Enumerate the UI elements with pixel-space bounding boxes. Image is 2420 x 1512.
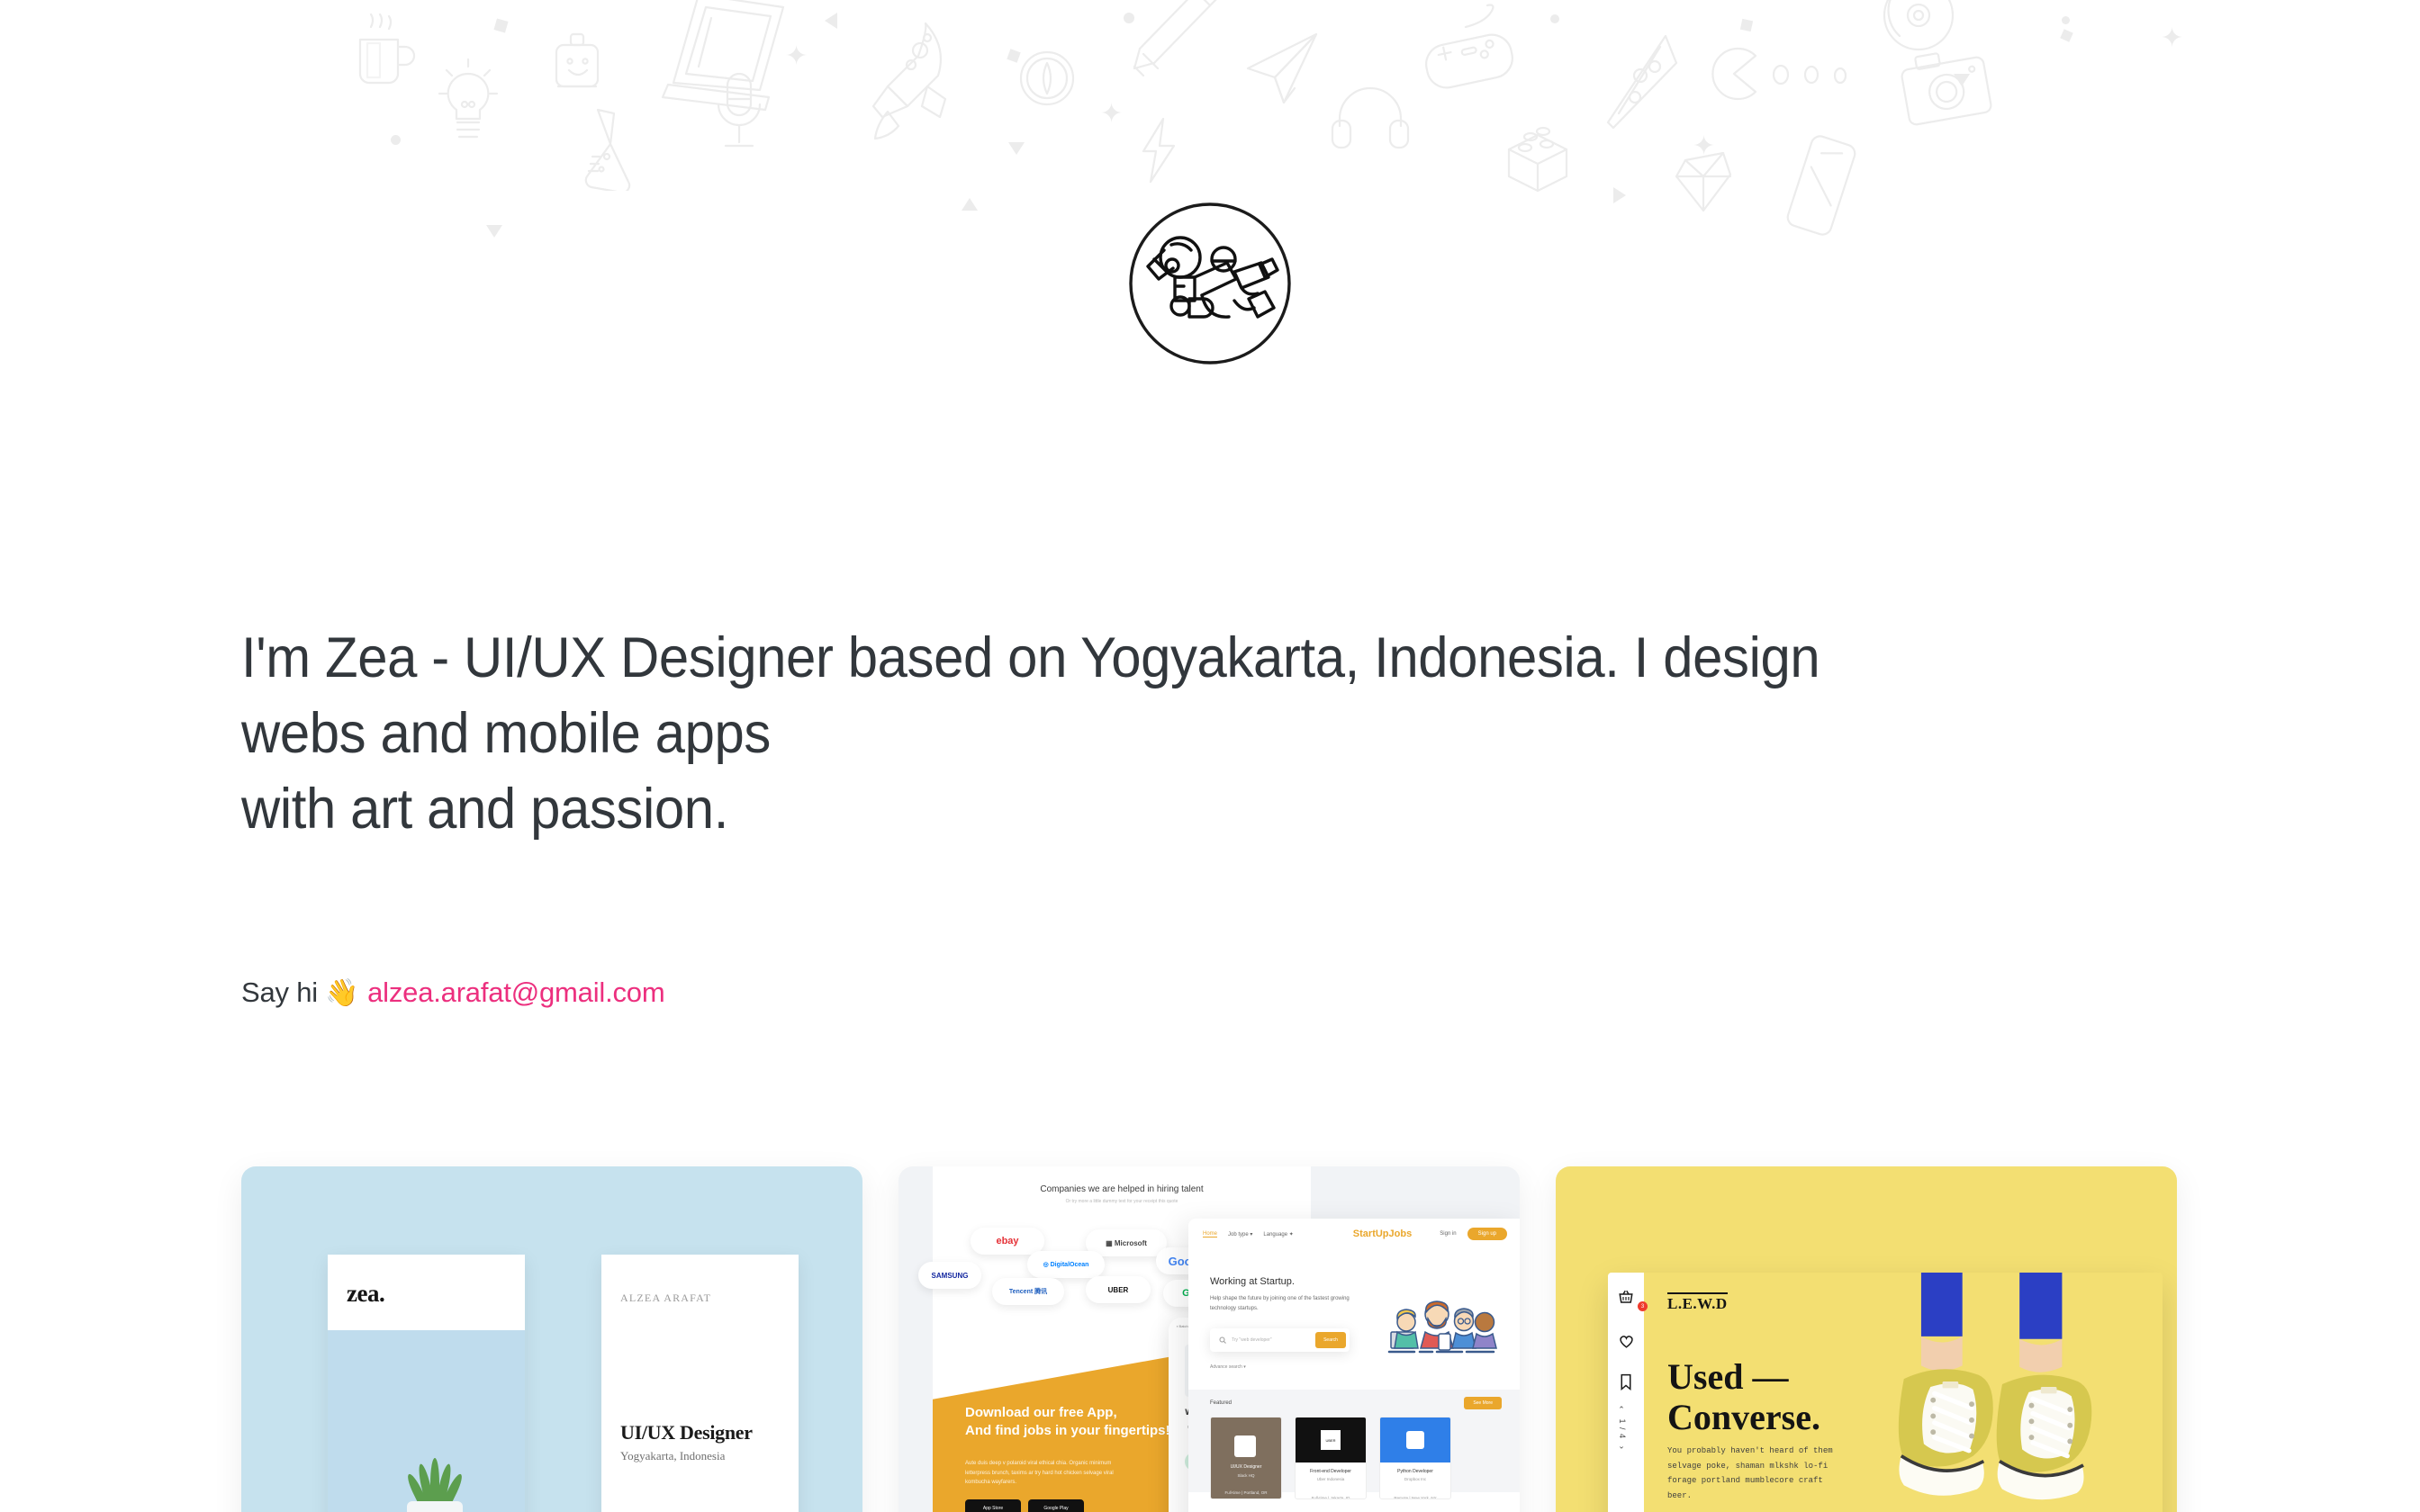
camera-icon <box>1900 43 1993 128</box>
pencil-icon <box>1125 0 1224 88</box>
company-logo-uber: UBER <box>1086 1276 1151 1303</box>
company-logo-ebay: ebay <box>971 1228 1044 1255</box>
contact-line: Say hi 👋 alzea.arafat@gmail.com <box>241 976 664 1009</box>
astronaut-icon <box>1124 198 1296 369</box>
waving-hand-icon: 👋 <box>325 980 358 1007</box>
square-icon <box>1007 49 1020 62</box>
owner-name: ALZEA ARAFAT <box>620 1291 711 1305</box>
featured-label: Featured <box>1210 1400 1232 1406</box>
shop-brand-logo: L.E.W.D <box>1667 1292 1728 1313</box>
job-title: UI/UX Designer <box>1211 1464 1281 1470</box>
job-meta: Full-time | Portland, OR <box>1211 1490 1281 1495</box>
page-title: I'm Zea - UI/UX Designer based on Yogyak… <box>241 621 1952 847</box>
square-icon <box>493 18 508 32</box>
star-icon: ✦ <box>785 43 808 70</box>
triangle-icon <box>1954 74 1970 86</box>
job-thumbnail <box>1380 1417 1450 1462</box>
dot-icon <box>2062 16 2070 24</box>
rocket-icon <box>864 11 963 146</box>
cart-badge: 3 <box>1638 1301 1648 1311</box>
job-search-bar[interactable]: Try "web developer" Search <box>1210 1328 1350 1352</box>
job-card[interactable]: UBER Front-end Developer Uber Indonesia … <box>1295 1417 1367 1499</box>
astronaut-logo[interactable] <box>1124 198 1296 369</box>
gamepad-icon <box>1421 4 1520 99</box>
nav-job-type[interactable]: Job type ▾ <box>1228 1231 1252 1237</box>
nav-language[interactable]: Language ✦ <box>1263 1231 1293 1237</box>
triangle-icon <box>1613 187 1626 203</box>
company-logo-tencent: Tencent 腾讯 <box>992 1278 1064 1305</box>
company-logo-digitalocean: ◎ DigitalOcean <box>1027 1251 1105 1278</box>
job-company: Uber Indonesia <box>1296 1477 1366 1481</box>
shop-browser-mockup: 3 ⌃ 1 / 4 ⌄ L.E.W.D Use <box>1608 1273 2163 1512</box>
browser-hero-title: Working at Startup. <box>1210 1276 1295 1287</box>
see-more-button[interactable]: See More <box>1464 1397 1502 1409</box>
job-card[interactable]: UI/UX Designer Slack HQ Full-time | Port… <box>1210 1417 1282 1499</box>
job-thumbnail: UI/UX Designer Slack HQ Full-time | Port… <box>1211 1417 1281 1499</box>
carousel-pagination: ⌃ 1 / 4 ⌄ <box>1618 1406 1627 1453</box>
plant-photo <box>389 1449 479 1512</box>
brand-mark: zea. <box>347 1280 384 1308</box>
say-hi-label: Say hi <box>241 976 318 1009</box>
cd-disc-icon <box>1878 0 1959 56</box>
advance-search-toggle[interactable]: Advance search ▾ <box>1210 1364 1246 1370</box>
star-icon: ✦ <box>1100 101 1123 128</box>
smartphone-icon <box>1784 133 1856 239</box>
companies-subheading: Or try more a little dummy text for your… <box>933 1199 1311 1204</box>
google-play-button[interactable]: Google Play <box>1028 1499 1084 1512</box>
job-company: Slack HQ <box>1211 1473 1281 1478</box>
owner-location: Yogyakarta, Indonesia <box>620 1449 725 1463</box>
search-placeholder: Try "web developer" <box>1232 1337 1272 1343</box>
shop-side-rail: 3 ⌃ 1 / 4 ⌄ <box>1608 1273 1644 1512</box>
nav-home[interactable]: Home <box>1203 1231 1217 1237</box>
laptop-icon <box>646 0 799 113</box>
dot-icon <box>391 135 401 145</box>
lego-head-icon <box>549 29 607 101</box>
product-title-line-1: Used — <box>1667 1356 1788 1397</box>
square-icon <box>2060 29 2073 42</box>
basket-icon-wrap[interactable]: 3 <box>1618 1289 1634 1309</box>
paper-plane-icon <box>1242 31 1323 106</box>
lightning-bolt-icon <box>1136 117 1183 184</box>
diamond-icon <box>1673 144 1736 216</box>
compass-icon <box>1016 47 1079 110</box>
triangle-icon <box>486 225 502 238</box>
signup-button[interactable]: Sign up <box>1467 1228 1507 1240</box>
app-promo-headline: Download our free App, And find jobs in … <box>965 1404 1190 1441</box>
browser-mockup: Home Job type ▾ Language ✦ StartUpJobs S… <box>1188 1219 1520 1512</box>
project-card-startupjobs[interactable]: Companies we are helped in hiring talent… <box>898 1166 1520 1512</box>
dot-icon <box>1550 14 1559 23</box>
star-icon: ✦ <box>1693 133 1715 160</box>
browser-logo: StartUpJobs <box>1353 1228 1412 1239</box>
square-icon <box>1740 19 1753 31</box>
triangle-icon <box>825 13 837 29</box>
owner-role: UI/UX Designer <box>620 1421 753 1444</box>
plant-leaves <box>411 1454 459 1508</box>
business-card-back: ALZEA ARAFAT UI/UX Designer Yogyakarta, … <box>601 1255 799 1512</box>
dot-icon <box>1124 13 1134 23</box>
portfolio-page: ✦ ✦ ✦ ✦ ✦ <box>0 0 2420 1512</box>
lego-brick-icon <box>1503 121 1572 196</box>
email-link[interactable]: alzea.arafat@gmail.com <box>367 976 664 1009</box>
product-title-line-2: Converse. <box>1667 1397 1820 1437</box>
job-meta: Full-time | Jakarta, ID <box>1296 1496 1366 1499</box>
app-promo-body: Aute duis deep v polaroid viral ethical … <box>965 1459 1136 1487</box>
job-title: Front-end Developer <box>1296 1469 1366 1474</box>
job-card[interactable]: Python Developer Dropbox Inc Remote | Ne… <box>1379 1417 1451 1499</box>
heart-icon[interactable] <box>1618 1333 1635 1350</box>
job-thumbnail: UBER <box>1296 1417 1366 1462</box>
triangle-icon <box>1008 142 1025 155</box>
headphones-icon <box>1331 79 1410 151</box>
pizza-icon <box>1601 31 1684 130</box>
flask-icon <box>576 104 639 191</box>
pacman-icon <box>1703 43 1765 104</box>
pacman-pellets-icon <box>1772 63 1853 86</box>
search-icon <box>1219 1336 1226 1344</box>
project-card-lewd-shop[interactable]: 3 ⌃ 1 / 4 ⌄ L.E.W.D Use <box>1556 1166 2177 1512</box>
job-company: Dropbox Inc <box>1380 1477 1450 1481</box>
lightbulb-icon <box>432 54 504 153</box>
project-card-branding[interactable]: zea. ALZEA ARAFAT UI/UX Designer Yogy <box>241 1166 862 1512</box>
coffee-mug-icon <box>344 13 425 95</box>
companies-heading: Companies we are helped in hiring talent <box>933 1184 1311 1194</box>
star-icon: ✦ <box>2161 25 2183 52</box>
team-illustration <box>1386 1289 1503 1361</box>
browser-hero-body: Help shape the future by joining one of … <box>1210 1294 1354 1314</box>
search-button[interactable]: Search <box>1315 1332 1346 1348</box>
hero-section: I'm Zea - UI/UX Designer based on Yogyak… <box>241 621 2042 847</box>
project-card-grid: zea. ALZEA ARAFAT UI/UX Designer Yogy <box>241 1166 2179 1512</box>
converse-shoes-photo <box>1811 1273 2163 1512</box>
job-title: Python Developer <box>1380 1469 1450 1474</box>
microphone-icon <box>711 70 767 157</box>
signin-link[interactable]: Sign in <box>1440 1231 1456 1237</box>
company-logo-samsung: SAMSUNG <box>918 1262 981 1289</box>
browser-nav: Home Job type ▾ Language ✦ StartUpJobs S… <box>1188 1219 1520 1249</box>
job-meta: Remote | New York, NY <box>1380 1496 1450 1499</box>
plant-pot <box>407 1501 463 1512</box>
basket-icon <box>1618 1289 1634 1305</box>
business-card-front: zea. <box>328 1255 525 1512</box>
app-store-button[interactable]: App Store <box>965 1499 1021 1512</box>
triangle-icon <box>962 198 978 211</box>
bookmark-icon[interactable] <box>1619 1373 1633 1390</box>
